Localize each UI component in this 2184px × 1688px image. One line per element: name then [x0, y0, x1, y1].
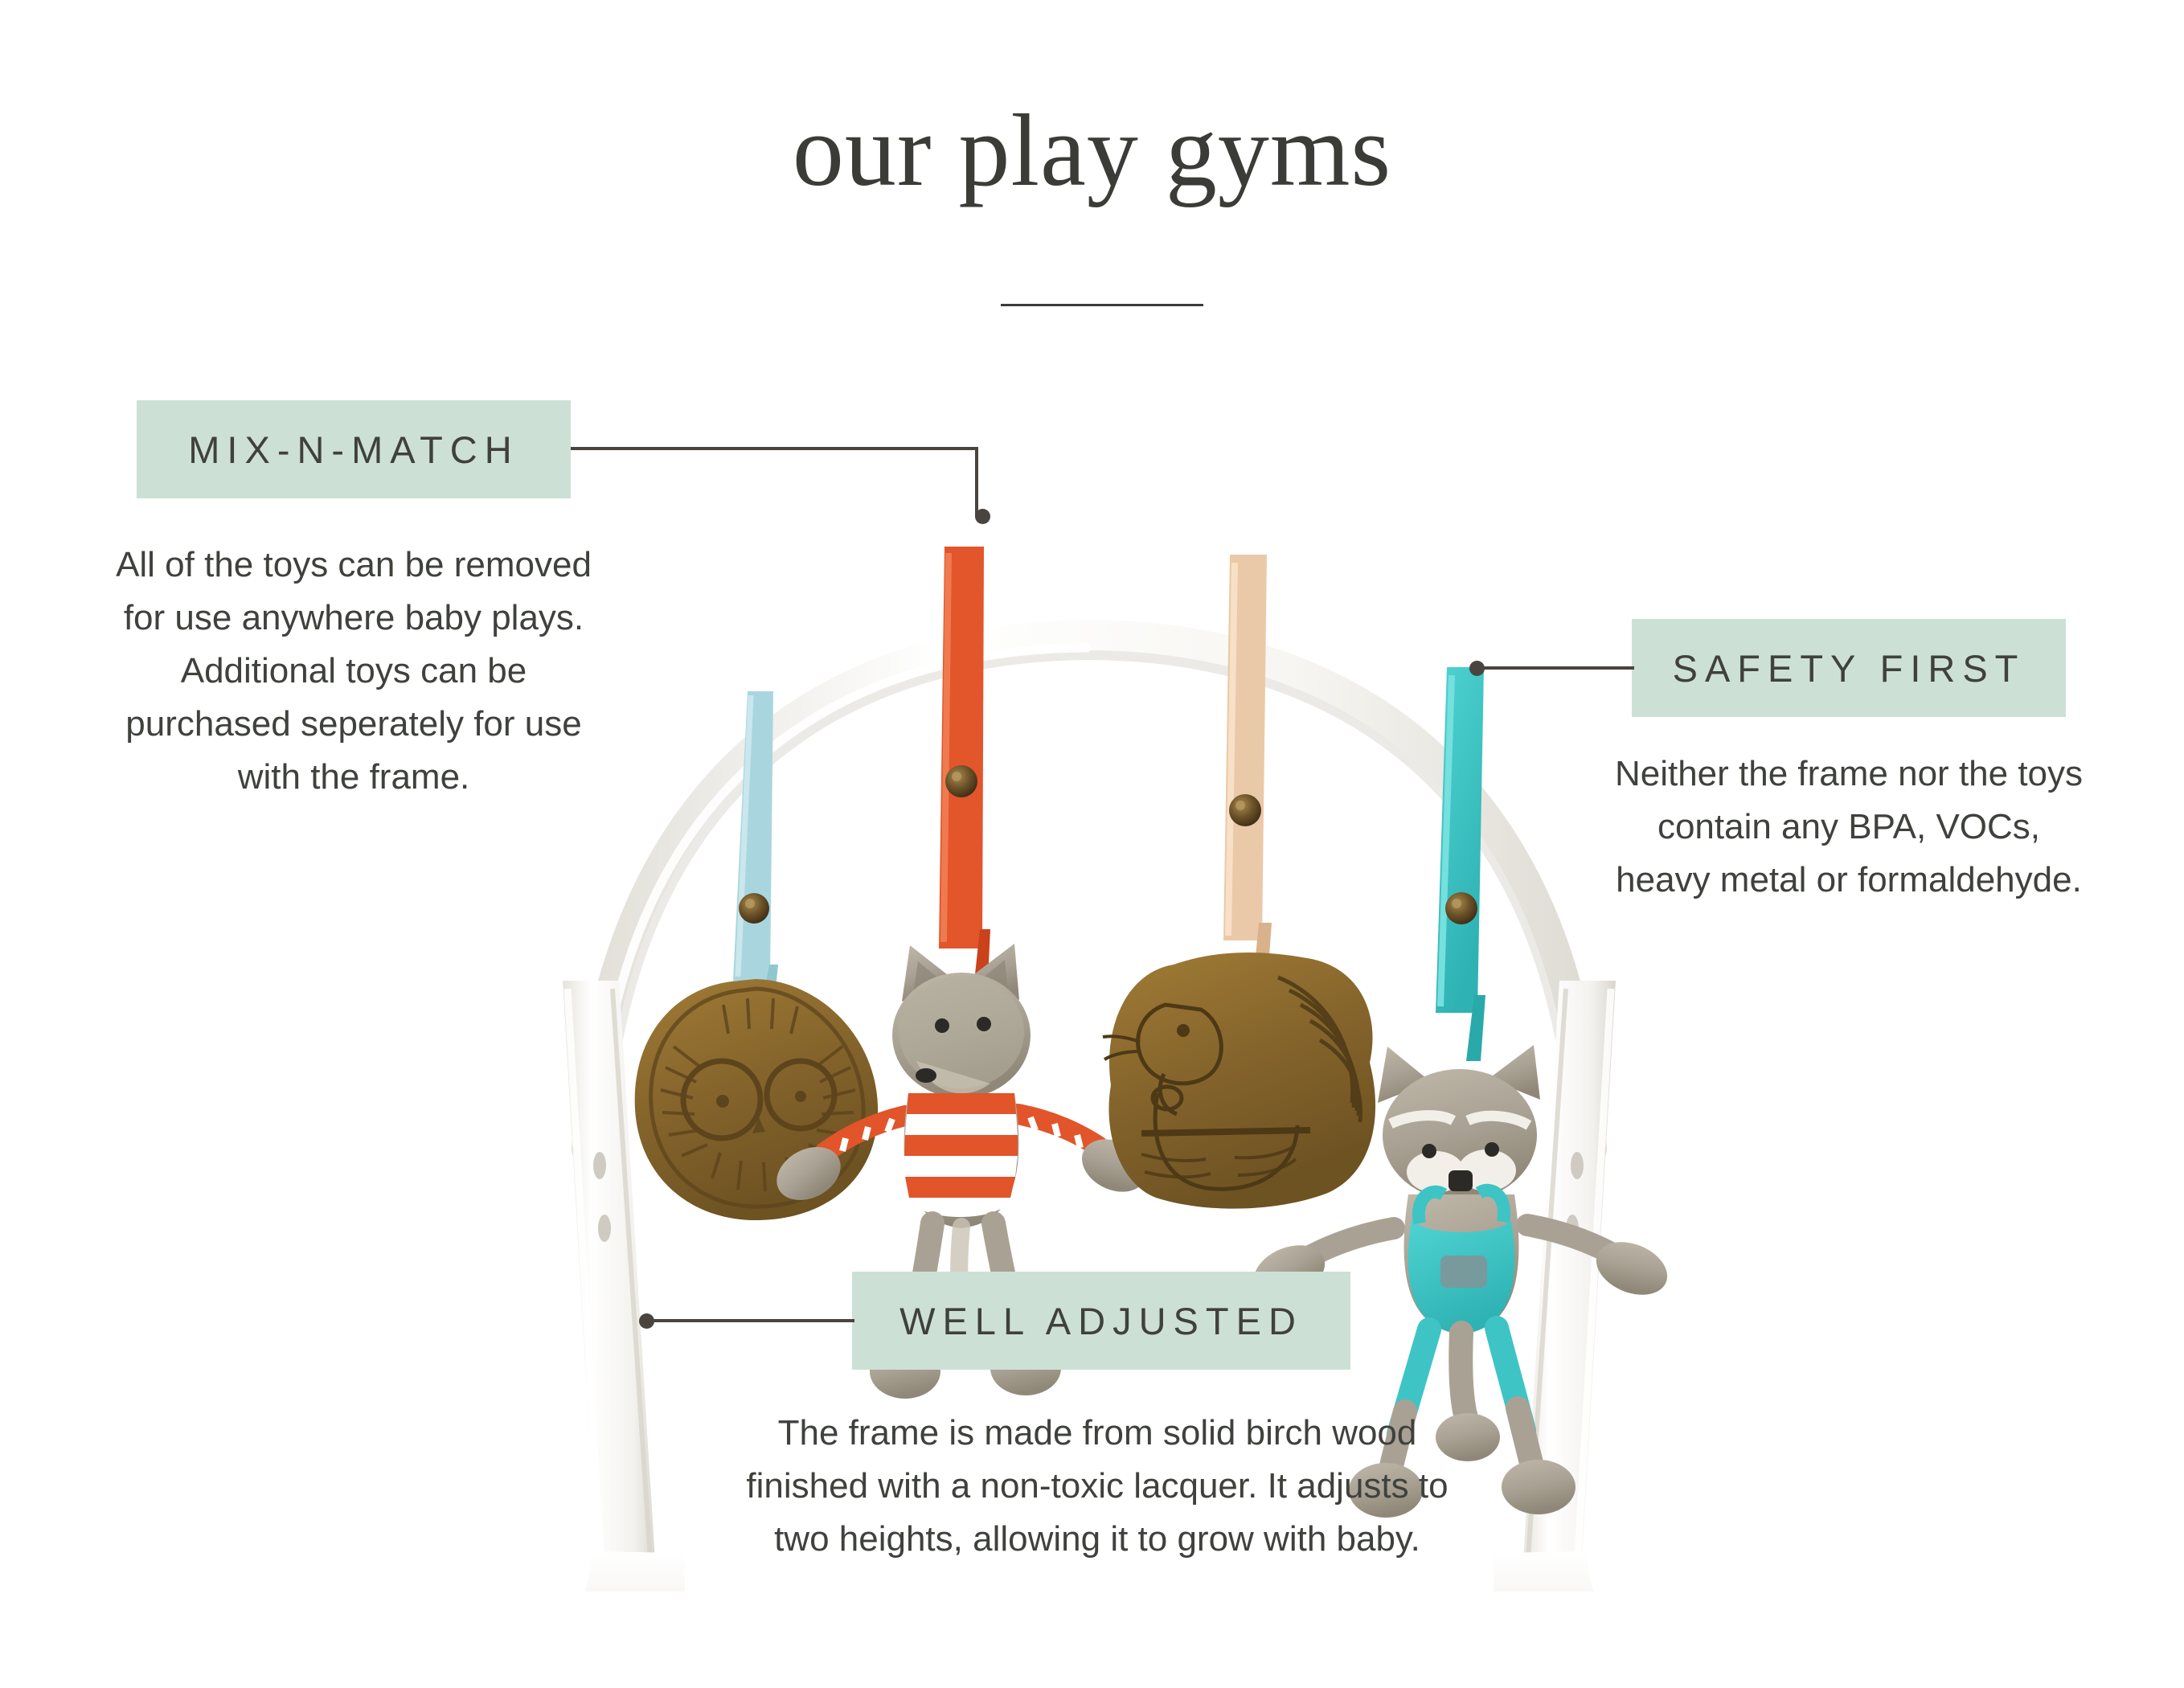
connector-dot-mix-n-match — [975, 509, 990, 524]
callout-chip-well-adjusted: WELL ADJUSTED — [852, 1272, 1350, 1370]
callout-body-safety-first: Neither the frame nor the toys contain a… — [1608, 748, 2090, 907]
callout-label-safety-first: SAFETY FIRST — [1632, 646, 2066, 690]
connector-line-mix-n-match-horizontal — [571, 447, 978, 450]
callout-body-mix-n-match: All of the toys can be removed for use a… — [104, 539, 603, 804]
callout-label-well-adjusted: WELL ADJUSTED — [852, 1299, 1350, 1343]
gym-left-leg — [330, 981, 685, 1592]
callout-label-mix-n-match: MIX-N-MATCH — [137, 428, 571, 472]
callout-body-well-adjusted: The frame is made from solid birch wood … — [723, 1407, 1471, 1566]
page-title: our play gyms — [0, 96, 2184, 204]
callout-chip-mix-n-match: MIX-N-MATCH — [137, 400, 571, 498]
squirrel-teether-shape — [1103, 953, 1375, 1209]
title-divider — [1001, 304, 1203, 306]
infographic-page: our play gyms — [0, 0, 2184, 1688]
callout-chip-safety-first: SAFETY FIRST — [1632, 619, 2066, 717]
connector-line-well-adjusted — [649, 1319, 854, 1322]
toy-fox-rattle — [768, 547, 1155, 1399]
owl-teether-disc — [635, 979, 878, 1220]
connector-line-mix-n-match-vertical — [975, 447, 978, 516]
connector-line-safety-first — [1481, 666, 1634, 670]
